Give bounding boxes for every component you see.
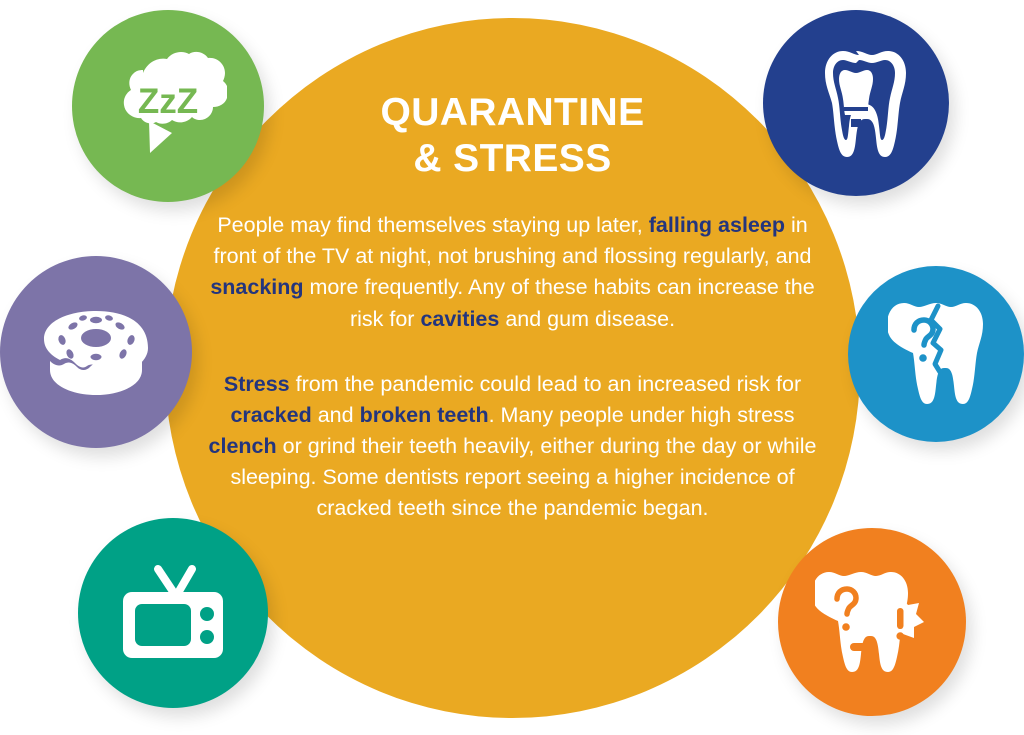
p2-highlight-broken-teeth: broken teeth xyxy=(360,403,489,427)
page-title-line-2: & STRESS xyxy=(195,136,830,182)
infographic-canvas: ZzZ xyxy=(0,0,1024,735)
p2-highlight-stress: Stress xyxy=(224,372,290,396)
icon-bubble-broken-tooth xyxy=(778,528,966,716)
p1-text-4: and gum disease. xyxy=(499,307,675,331)
cracked-tooth-icon xyxy=(888,300,984,408)
donut-icon xyxy=(40,309,152,395)
p1-highlight-cavities: cavities xyxy=(420,307,499,331)
page-title-line-1: QUARANTINE xyxy=(195,90,830,136)
icon-bubble-television xyxy=(78,518,268,708)
p2-text-2: and xyxy=(312,403,360,427)
p2-text-1: from the pandemic could lead to an incre… xyxy=(290,372,802,396)
sleep-zzz-label: ZzZ xyxy=(138,82,198,121)
p2-text-4: or grind their teeth heavily, either dur… xyxy=(230,434,816,520)
paragraph-habits: People may find themselves staying up la… xyxy=(195,210,830,335)
p2-text-3: . Many people under high stress xyxy=(489,403,795,427)
television-icon xyxy=(118,564,228,662)
broken-tooth-alert-icon xyxy=(815,569,929,675)
page-title: QUARANTINE & STRESS xyxy=(195,90,830,182)
icon-bubble-donut xyxy=(0,256,192,448)
p2-highlight-cracked: cracked xyxy=(230,403,311,427)
p1-highlight-snacking: snacking xyxy=(210,275,303,299)
p1-text-1: People may find themselves staying up la… xyxy=(217,213,648,237)
p1-highlight-falling-asleep: falling asleep xyxy=(649,213,785,237)
icon-bubble-cracked-tooth xyxy=(848,266,1024,442)
p2-highlight-clench: clench xyxy=(209,434,277,458)
paragraph-stress: Stress from the pandemic could lead to a… xyxy=(195,369,830,525)
content-stack: QUARANTINE & STRESS People may find them… xyxy=(195,90,830,525)
